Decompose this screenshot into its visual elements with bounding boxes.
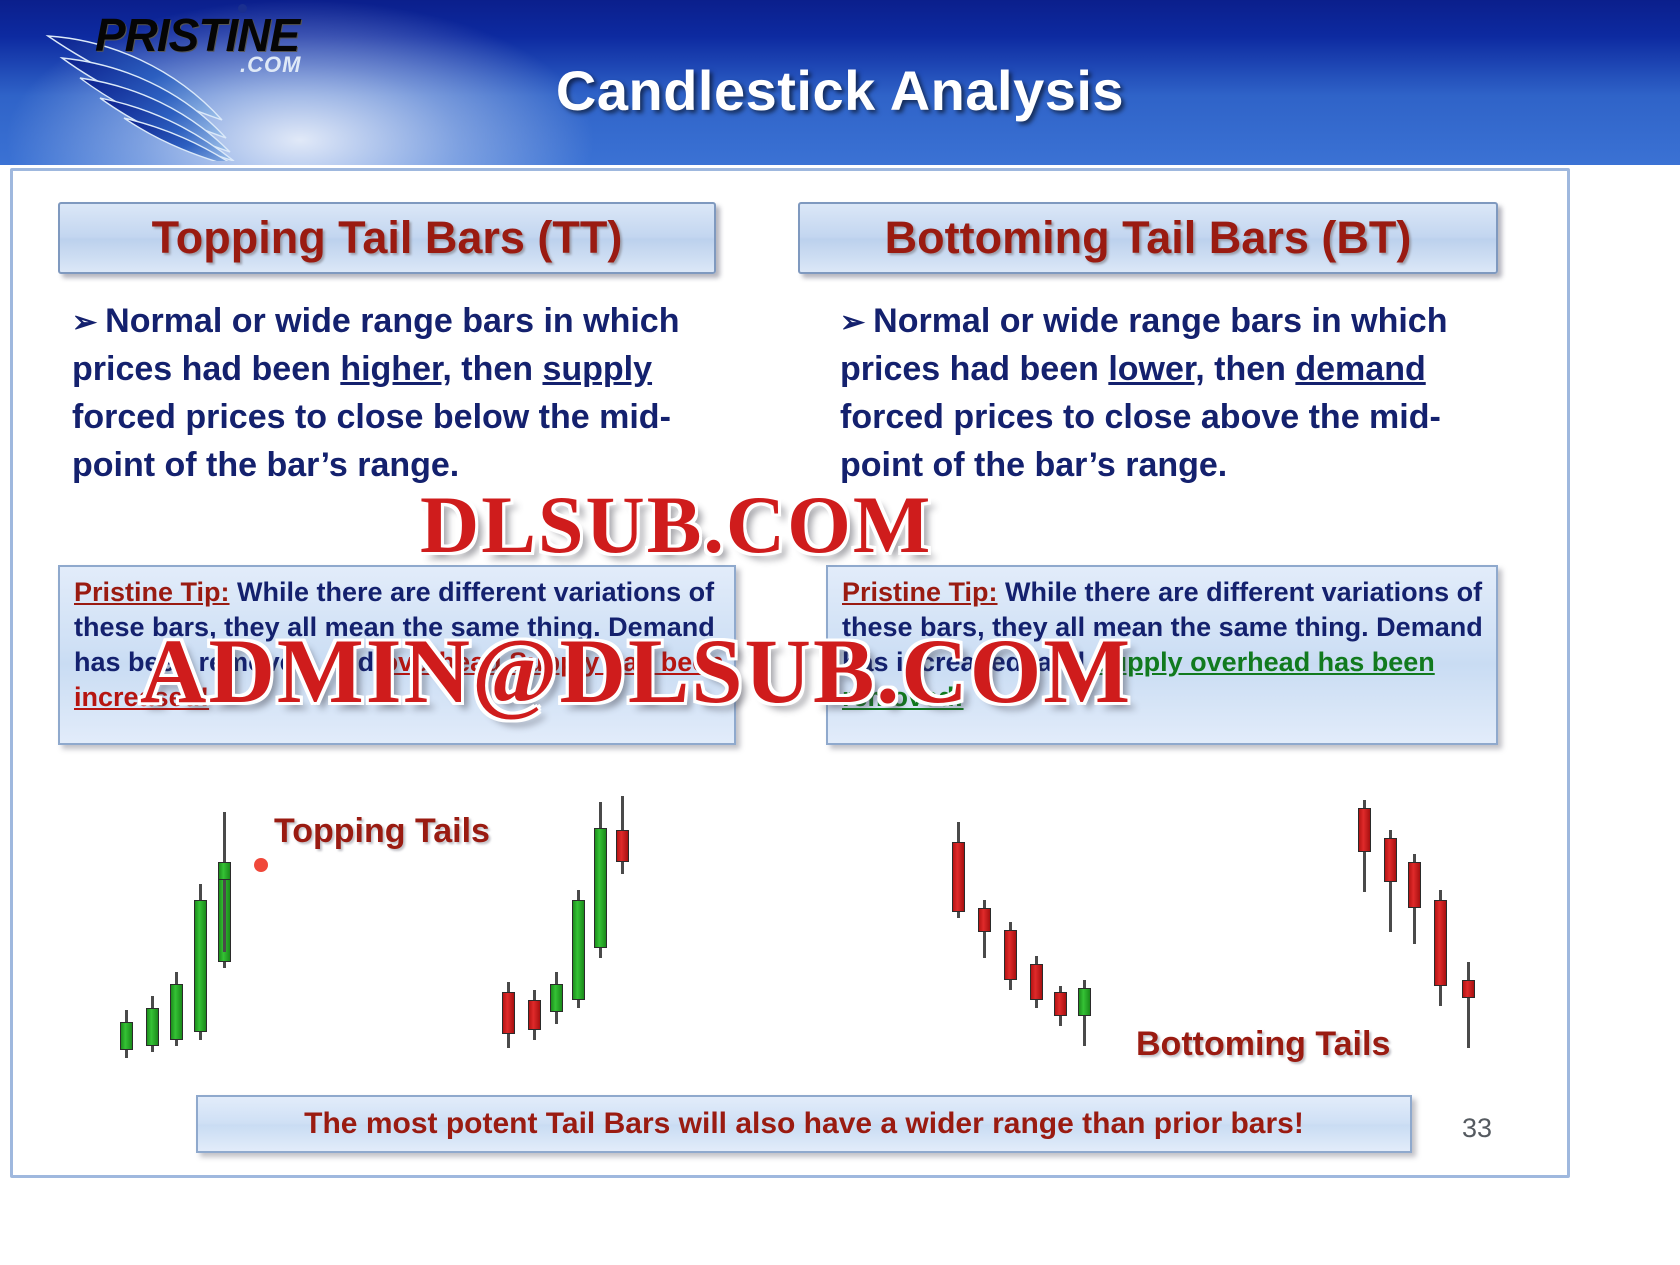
candlestick — [528, 990, 541, 1040]
candle-body-bullish — [146, 1008, 159, 1046]
tip-label-right: Pristine Tip: — [842, 577, 998, 607]
arrow-bullet-icon: ➢ — [72, 306, 97, 339]
emphasised-term: supply — [542, 350, 652, 388]
body-text: then — [452, 350, 543, 388]
candle-body-bullish — [550, 984, 563, 1012]
emphasised-term: demand — [1295, 350, 1425, 388]
candlestick — [1408, 854, 1421, 944]
chart-label-topping-tails: Topping Tails — [274, 812, 490, 851]
candle-body-bearish — [1408, 862, 1421, 908]
bullet-rich-left: Normal or wide range bars in which price… — [72, 302, 680, 484]
chart-label-bottoming-tails: Bottoming Tails — [1136, 1025, 1390, 1064]
heading-box-bottoming-tail: Bottoming Tail Bars (BT) — [798, 202, 1498, 274]
bottom-caption-box: The most potent Tail Bars will also have… — [196, 1095, 1412, 1153]
heading-box-topping-tail: Topping Tail Bars (TT) — [58, 202, 716, 274]
candle-body-bullish — [1078, 988, 1091, 1016]
candlestick — [1358, 800, 1371, 892]
candle-body-bullish — [120, 1022, 133, 1050]
candle-body-bullish — [218, 862, 231, 880]
candle-body-bearish — [1004, 930, 1017, 980]
candle-body-bearish — [528, 1000, 541, 1030]
heading-text-bottoming-tail: Bottoming Tail Bars (BT) — [885, 212, 1412, 264]
heading-text-topping-tail: Topping Tail Bars (TT) — [152, 212, 623, 264]
candlestick — [194, 884, 207, 1040]
candlestick — [120, 1010, 133, 1058]
candle-body-bearish — [1030, 964, 1043, 1000]
pristine-tip-box-left: Pristine Tip: While there are different … — [58, 565, 736, 745]
candlestick — [170, 972, 183, 1046]
candlestick — [146, 996, 159, 1052]
body-text: forced prices to close above the mid-poi… — [840, 398, 1441, 484]
candle-body-bearish — [502, 992, 515, 1034]
candlestick — [1054, 986, 1067, 1026]
candle-body-bullish — [572, 900, 585, 1000]
candlestick — [1462, 962, 1475, 1048]
candle-body-bearish — [1054, 992, 1067, 1016]
candlestick-chart-area: Topping Tails Bottoming Tails — [16, 760, 1544, 1110]
bullet-paragraph-left: ➢Normal or wide range bars in which pric… — [72, 298, 732, 490]
candlestick — [978, 900, 991, 958]
bullet-paragraph-right: ➢Normal or wide range bars in which pric… — [840, 298, 1500, 490]
candle-body-bearish — [1358, 808, 1371, 852]
candlestick — [572, 890, 585, 1008]
slide-root: PRISTINE .COM Candlestick Analysis Toppi… — [0, 0, 1680, 1265]
arrow-bullet-icon: ➢ — [840, 306, 865, 339]
slide-header: PRISTINE .COM Candlestick Analysis — [0, 0, 1680, 165]
candle-body-bearish — [1462, 980, 1475, 998]
page-title: Candlestick Analysis — [0, 58, 1680, 123]
candle-body-bullish — [194, 900, 207, 1032]
red-marker-dot — [254, 858, 268, 872]
body-text: then — [1205, 350, 1296, 388]
candlestick — [616, 796, 629, 874]
pristine-tip-box-right: Pristine Tip: While there are different … — [826, 565, 1498, 745]
body-text: forced prices to close below the mid-poi… — [72, 398, 671, 484]
bottom-caption-text: The most potent Tail Bars will also have… — [304, 1107, 1304, 1141]
candlestick — [1078, 980, 1091, 1046]
candlestick — [952, 822, 965, 918]
candlestick — [594, 802, 607, 958]
candle-body-bearish — [616, 830, 629, 862]
emphasised-term: higher, — [340, 350, 451, 388]
candle-wick — [223, 812, 226, 952]
candle-body-bearish — [978, 908, 991, 932]
emphasised-term: lower, — [1108, 350, 1204, 388]
candle-body-bearish — [952, 842, 965, 912]
candlestick — [550, 972, 563, 1024]
candle-body-bullish — [594, 828, 607, 948]
candle-wick — [1467, 962, 1470, 1048]
candle-body-bearish — [1384, 838, 1397, 882]
tip-label-left: Pristine Tip: — [74, 577, 230, 607]
candlestick — [1004, 922, 1017, 990]
candlestick — [1384, 830, 1397, 932]
candle-body-bullish — [170, 984, 183, 1040]
candlestick — [502, 982, 515, 1048]
candlestick — [1030, 956, 1043, 1008]
bullet-rich-right: Normal or wide range bars in which price… — [840, 302, 1448, 484]
page-number: 33 — [1462, 1113, 1492, 1144]
candle-body-bearish — [1434, 900, 1447, 986]
candlestick — [1434, 890, 1447, 1006]
candlestick — [218, 812, 231, 952]
